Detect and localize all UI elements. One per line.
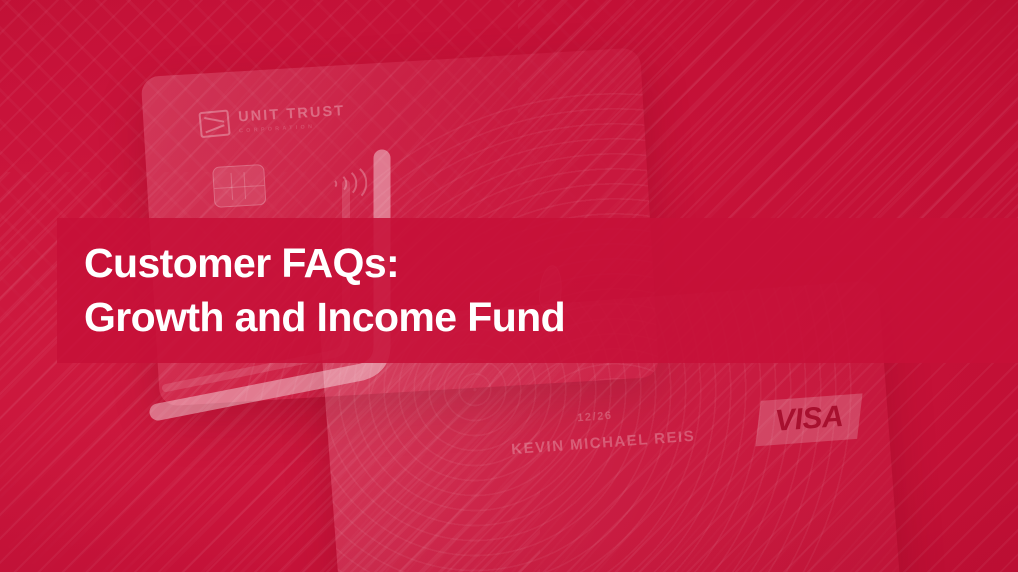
page-title-line-2: Growth and Income Fund [57, 291, 1018, 345]
faq-banner-hero: UNIT TRUST CORPORATION 12/26 KEVIN MICHA… [0, 0, 1018, 572]
title-banner: Customer FAQs: Growth and Income Fund [57, 218, 1018, 363]
page-title-line-1: Customer FAQs: [57, 237, 1018, 291]
